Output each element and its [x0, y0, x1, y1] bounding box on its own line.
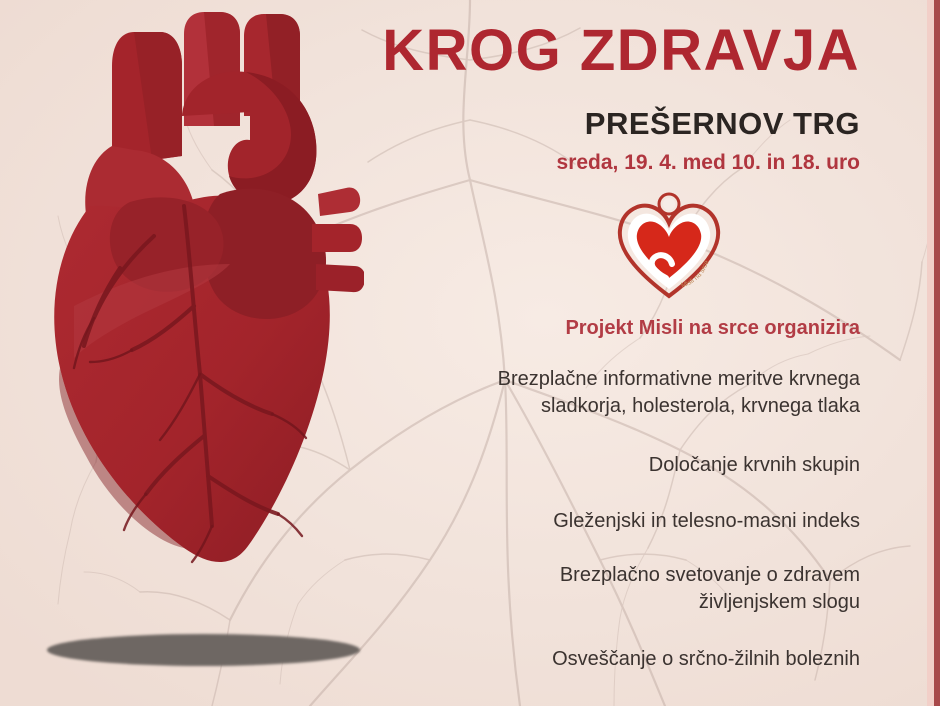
service-line: življenjskem slogu [360, 589, 860, 616]
right-edge-red-strip [934, 0, 940, 706]
service-line: Brezplačne informativne meritve krvnega [360, 366, 860, 393]
service-line: Brezplačno svetovanje o zdravem [360, 562, 860, 589]
anatomical-heart-illustration [34, 6, 364, 606]
service-line: Določanje krvnih skupin [360, 452, 860, 479]
heart-drop-shadow [47, 634, 360, 666]
venue-label: PREŠERNOV TRG [585, 108, 860, 139]
organizer-label: Projekt Misli na srce organizira [565, 318, 860, 338]
service-item: Brezplačno svetovanje o zdravem življenj… [360, 562, 860, 616]
service-item: Osveščanje o srčno-žilnih boleznih [360, 646, 860, 673]
misli-na-srce-heart-logo: Misli na srce [614, 192, 724, 304]
right-edge-pink-strip [927, 0, 934, 706]
service-item: Brezplačne informativne meritve krvnega … [360, 366, 860, 420]
poster-canvas: KROG ZDRAVJA PREŠERNOV TRG sreda, 19. 4.… [0, 0, 940, 706]
service-line: sladkorja, holesterola, krvnega tlaka [360, 393, 860, 420]
date-time-label: sreda, 19. 4. med 10. in 18. uro [557, 152, 860, 173]
service-line: Osveščanje o srčno-žilnih boleznih [360, 646, 860, 673]
page-title: KROG ZDRAVJA [382, 22, 860, 80]
service-item: Določanje krvnih skupin [360, 452, 860, 479]
poster-content: KROG ZDRAVJA PREŠERNOV TRG sreda, 19. 4.… [360, 0, 860, 706]
service-line: Gleženjski in telesno-masni indeks [360, 508, 860, 535]
service-item: Gleženjski in telesno-masni indeks [360, 508, 860, 535]
